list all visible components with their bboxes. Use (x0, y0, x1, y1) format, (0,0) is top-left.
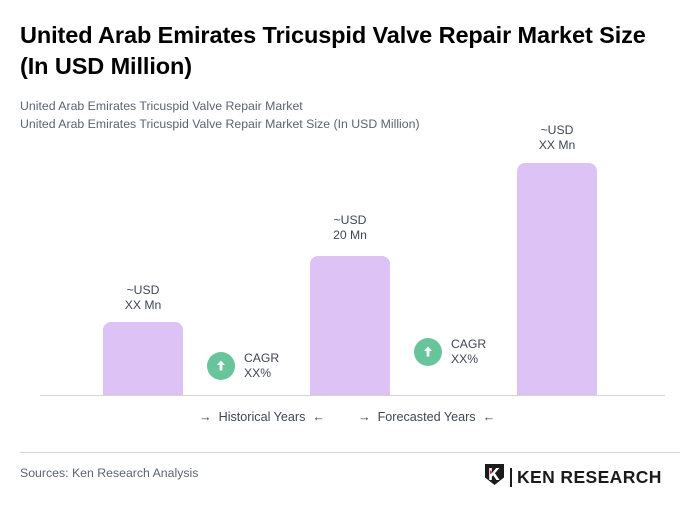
bar-value-currency-2: ~USD (290, 213, 410, 228)
cagr-label-1: CAGR (244, 351, 279, 366)
arrow-left-icon: ← (312, 410, 325, 424)
bar-value-amount-1: XX Mn (83, 298, 203, 313)
arrow-right-icon: → (358, 410, 371, 424)
bar-chart: ~USD XX Mn CAGR XX% ~USD 20 Mn (0, 0, 700, 440)
cagr-annotation-2[interactable]: CAGR XX% (414, 337, 486, 366)
bar-2[interactable] (310, 256, 390, 395)
bar-value-amount-2: 20 Mn (290, 228, 410, 243)
arrow-up-icon (207, 352, 235, 380)
period-label-forecasted-text: Forecasted Years (378, 410, 476, 424)
cagr-label-2: CAGR (451, 337, 486, 352)
logo-divider (510, 468, 512, 487)
bar-value-currency-3: ~USD (497, 123, 617, 138)
footer-divider (20, 452, 680, 453)
period-label-historical-text: Historical Years (219, 410, 306, 424)
sources-text: Sources: Ken Research Analysis (20, 466, 198, 480)
ken-shield-icon (484, 463, 505, 491)
period-label-historical: → Historical Years ← (199, 410, 325, 424)
axis-baseline (40, 395, 665, 396)
bar-value-amount-3: XX Mn (497, 138, 617, 153)
arrow-up-icon (414, 338, 442, 366)
arrow-left-icon: ← (483, 410, 496, 424)
chart-page: United Arab Emirates Tricuspid Valve Rep… (0, 0, 700, 520)
bar-value-label-3: ~USD XX Mn (497, 123, 617, 152)
cagr-annotation-1[interactable]: CAGR XX% (207, 351, 279, 380)
bar-value-label-1: ~USD XX Mn (83, 283, 203, 312)
bar-value-label-2: ~USD 20 Mn (290, 213, 410, 242)
cagr-value-1: XX% (244, 366, 279, 381)
bar-value-currency-1: ~USD (83, 283, 203, 298)
cagr-value-2: XX% (451, 352, 486, 367)
arrow-right-icon: → (199, 410, 212, 424)
period-label-forecasted: → Forecasted Years ← (358, 410, 495, 424)
cagr-text-2: CAGR XX% (451, 337, 486, 366)
ken-research-logo: KEN RESEARCH (484, 463, 662, 491)
cagr-text-1: CAGR XX% (244, 351, 279, 380)
bar-3[interactable] (517, 163, 597, 395)
bar-1[interactable] (103, 322, 183, 395)
logo-wordmark: KEN RESEARCH (517, 468, 662, 487)
logo-text: KEN RESEARCH (517, 468, 662, 487)
